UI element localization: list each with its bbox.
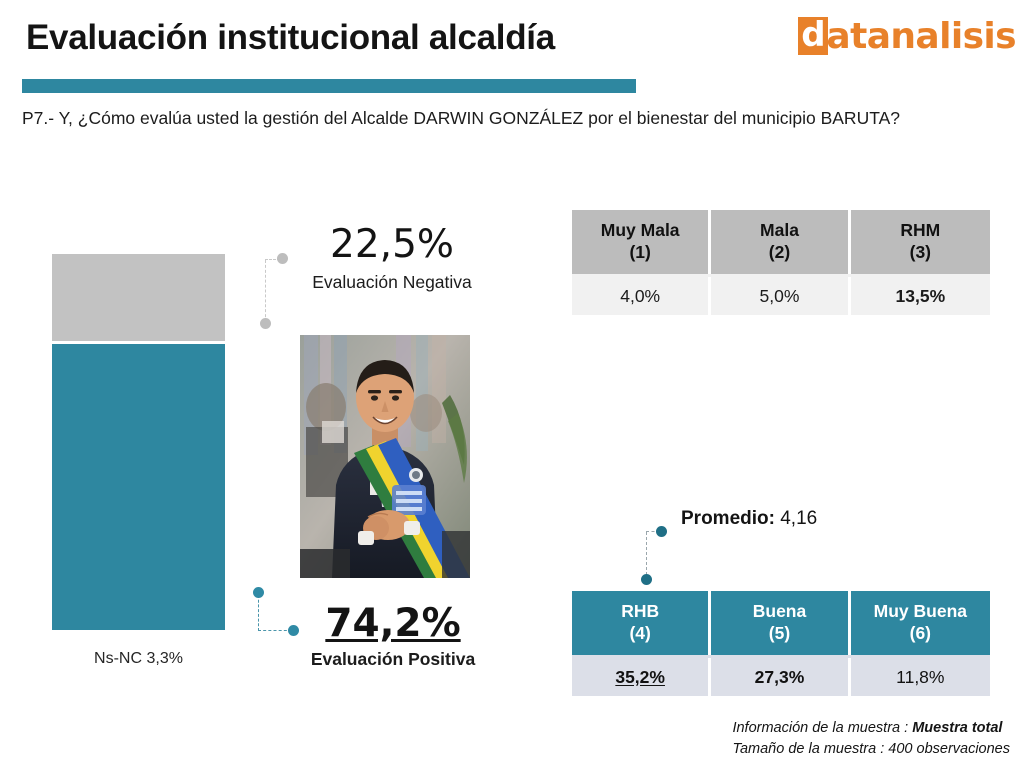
header-buena-line1: Buena [753,601,806,621]
value-rhm: 13,5% [851,277,990,315]
negative-caption: Evaluación Negativa [286,272,498,293]
header-muy-mala-line2: (1) [629,242,650,262]
table-positive-breakdown: RHB (4) Buena (5) Muy Buena (6) 35,2% 27… [572,591,990,696]
header-mala: Mala (2) [711,210,850,274]
header-rhm-line2: (3) [910,242,931,262]
callout-negative: 22,5% Evaluación Negativa [286,225,498,293]
connector-negative-dot-bottom [260,318,271,329]
nsnc-label: Ns-NC 3,3% [52,650,225,668]
table-row-header: Muy Mala (1) Mala (2) RHM (3) [572,210,990,274]
positive-value: 74,2% [290,604,496,643]
header-rhm-line1: RHM [900,220,940,240]
question-text: P7.- Y, ¿Cómo evalúa usted la gestión de… [22,106,972,131]
sample-info-line: Información de la muestra : Muestra tota… [732,718,1010,740]
sample-info-strong: Muestra total [912,720,1002,736]
header-muy-buena-line1: Muy Buena [874,601,967,621]
connector-promedio [640,510,680,590]
table-row: 4,0% 5,0% 13,5% [572,277,990,315]
header-buena: Buena (5) [711,591,850,655]
connector-promedio-dot-bottom [641,574,652,585]
promedio-key: Promedio: [681,508,775,529]
header-muy-buena: Muy Buena (6) [851,591,990,655]
connector-positive-line-v [258,595,259,631]
positive-caption: Evaluación Positiva [290,649,496,670]
bar-segment-positive [52,344,225,630]
header-buena-line2: (5) [769,623,790,643]
header-mala-line1: Mala [760,220,799,240]
header-muy-mala: Muy Mala (1) [572,210,711,274]
connector-positive-line-h [258,630,292,631]
bar-segment-negative [52,254,225,341]
table-negative-breakdown: Muy Mala (1) Mala (2) RHM (3) 4,0% 5,0% … [572,210,990,315]
table-row-header: RHB (4) Buena (5) Muy Buena (6) [572,591,990,655]
value-mala: 5,0% [711,277,850,315]
header-muy-buena-line2: (6) [910,623,931,643]
sample-info-prefix: Información de la muestra : [732,720,912,736]
header-rhb: RHB (4) [572,591,711,655]
logo-mark-icon: d [798,17,828,55]
promedio-value: 4,16 [780,508,817,529]
value-buena: 27,3% [711,658,850,696]
sample-size-line: Tamaño de la muestra : 400 observaciones [732,739,1010,761]
logo-wordmark: atanalisis [826,16,1016,57]
header-rhb-line1: RHB [621,601,659,621]
datanalisis-logo: d atanalisis [798,14,1016,58]
connector-positive-dot-top [253,587,264,598]
value-muy-mala: 4,0% [572,277,711,315]
title-accent-bar [22,79,636,93]
promedio-label: Promedio: 4,16 [681,508,817,530]
header-mala-line2: (2) [769,242,790,262]
connector-promedio-line-v [646,532,647,580]
page-title: Evaluación institucional alcaldía [26,18,555,58]
connector-negative-line-v [265,260,266,322]
mayor-photo [300,335,470,578]
header-rhb-line2: (4) [629,623,650,643]
stacked-bar-chart [52,254,225,630]
table-row: 35,2% 27,3% 11,8% [572,658,990,696]
value-muy-buena: 11,8% [851,658,990,696]
sample-footer: Información de la muestra : Muestra tota… [732,718,1010,762]
connector-promedio-dot-top [656,526,667,537]
header-muy-mala-line1: Muy Mala [601,220,680,240]
callout-positive: 74,2% Evaluación Positiva [290,604,496,670]
value-rhb: 35,2% [572,658,711,696]
header-rhm: RHM (3) [851,210,990,274]
negative-value: 22,5% [286,225,498,264]
